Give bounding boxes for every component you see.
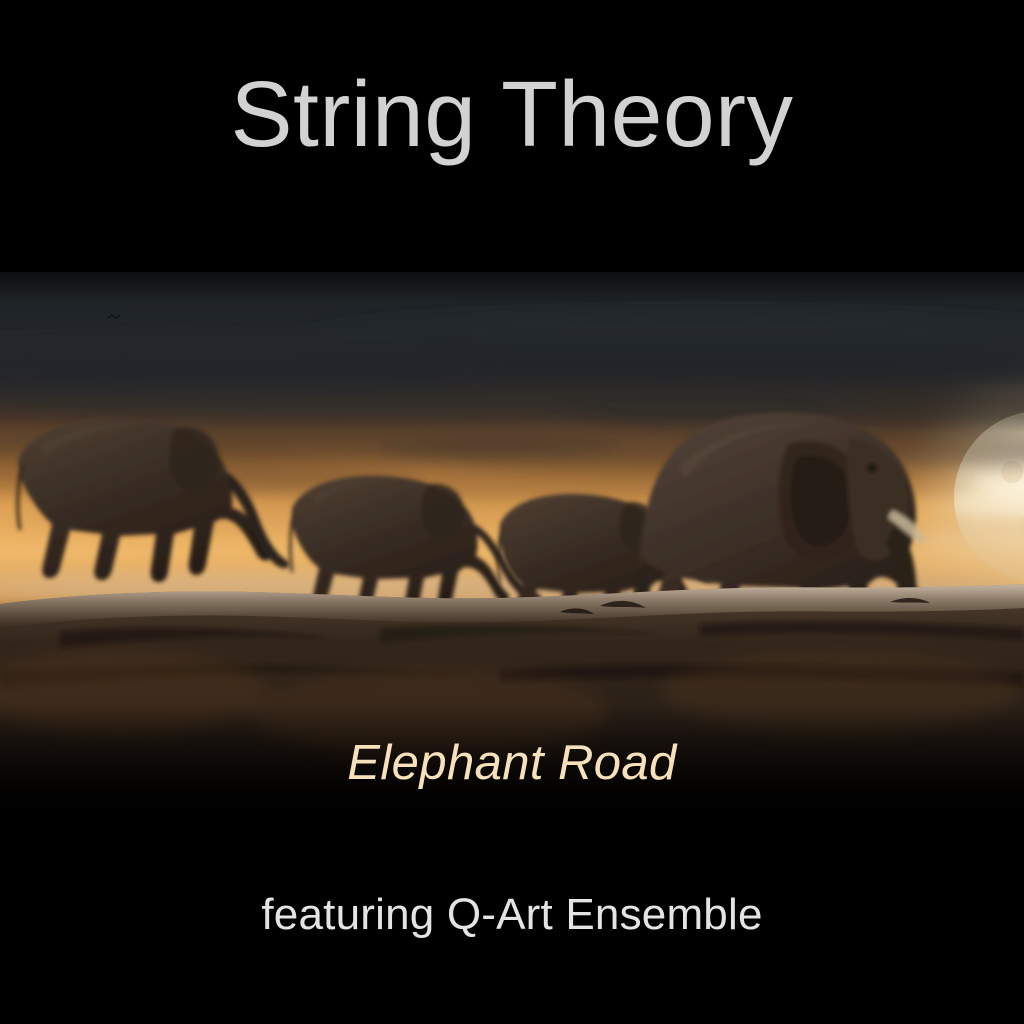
artwork-photo	[0, 272, 1024, 812]
photo-top-fade	[0, 272, 1024, 302]
page-title: String Theory	[0, 68, 1024, 161]
title-band: String Theory	[0, 0, 1024, 272]
cloud-band	[0, 312, 1024, 432]
artwork-illustration	[0, 272, 1024, 812]
featuring-credit: featuring Q-Art Ensemble	[0, 890, 1024, 940]
track-title: Elephant Road	[0, 735, 1024, 791]
album-cover: String Theory	[0, 0, 1024, 1024]
